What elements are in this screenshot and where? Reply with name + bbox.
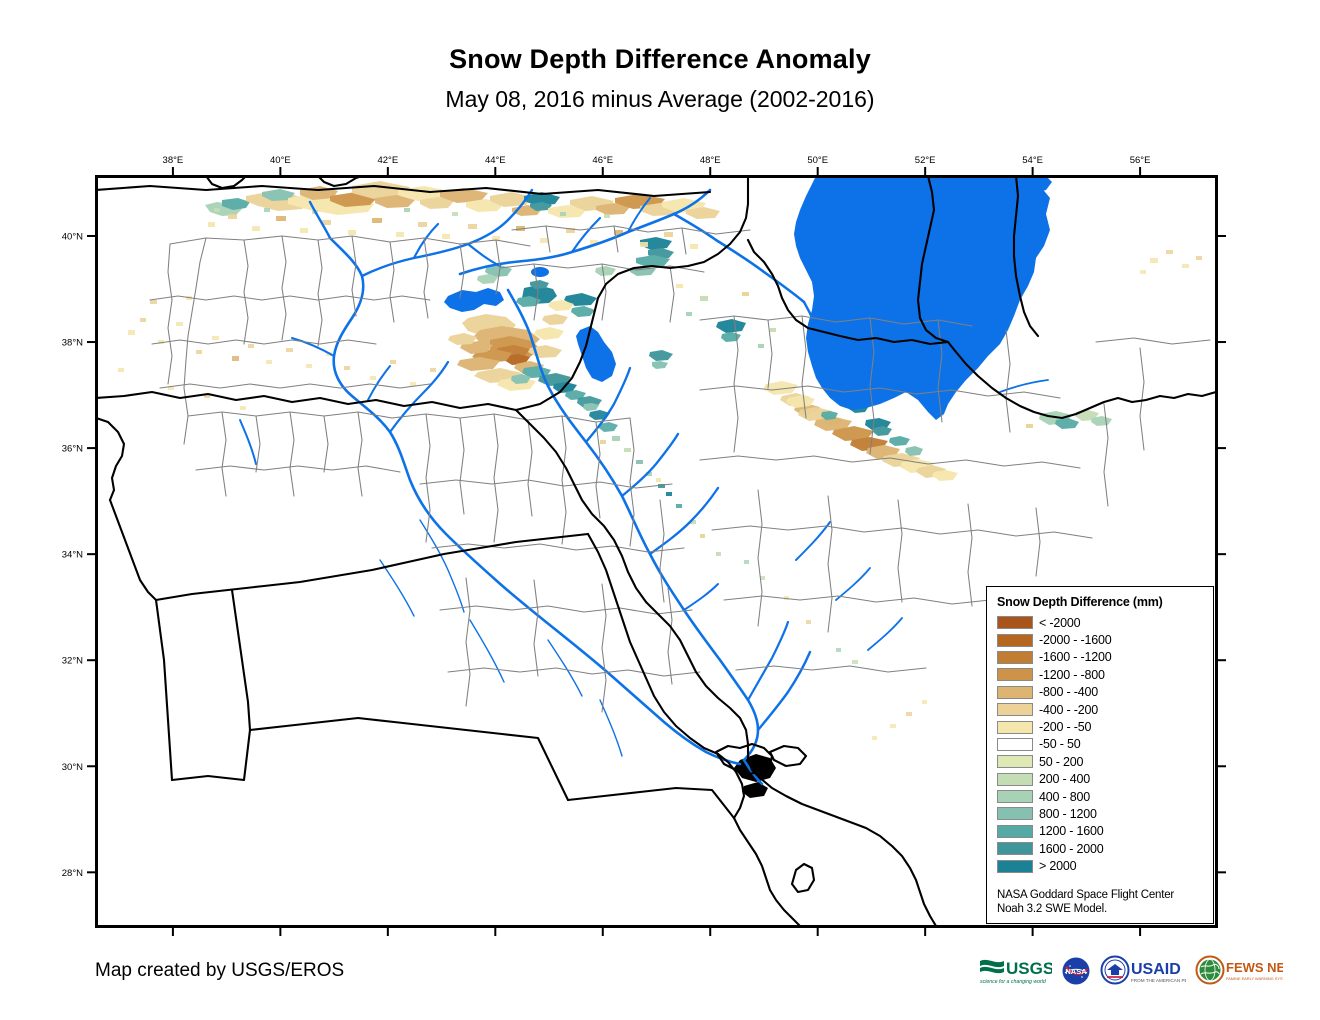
- svg-text:science for a changing world: science for a changing world: [980, 979, 1047, 985]
- legend-entries: < -2000-2000 - -1600-1600 - -1200-1200 -…: [997, 614, 1213, 875]
- legend-label: 50 - 200: [1039, 755, 1083, 769]
- legend-row: 1600 - 2000: [997, 840, 1213, 857]
- legend-row: 1200 - 1600: [997, 823, 1213, 840]
- lon-axis-label: 46°E: [592, 155, 613, 166]
- agency-logos: USGS science for a changing world NASA U…: [978, 953, 1283, 989]
- legend-row: < -2000: [997, 614, 1213, 631]
- map-credit: Map created by USGS/EROS: [95, 960, 344, 982]
- legend-row: -2000 - -1600: [997, 631, 1213, 648]
- legend-panel[interactable]: Snow Depth Difference (mm) < -2000-2000 …: [986, 586, 1214, 924]
- legend-source-line-1: NASA Goddard Space Flight Center: [997, 888, 1174, 902]
- svg-text:FEWS NET: FEWS NET: [1226, 960, 1283, 975]
- legend-source: NASA Goddard Space Flight Center Noah 3.…: [997, 888, 1174, 916]
- legend-swatch: [997, 790, 1033, 803]
- legend-label: -2000 - -1600: [1039, 633, 1111, 647]
- lon-axis-label: 40°E: [270, 155, 291, 166]
- legend-source-line-2: Noah 3.2 SWE Model.: [997, 902, 1174, 916]
- legend-swatch: [997, 860, 1033, 873]
- legend-row: -400 - -200: [997, 701, 1213, 718]
- legend-swatch: [997, 616, 1033, 629]
- legend-label: -800 - -400: [1039, 685, 1098, 699]
- svg-text:USGS: USGS: [1006, 959, 1052, 978]
- legend-label: 800 - 1200: [1039, 807, 1097, 821]
- lon-axis-label: 52°E: [915, 155, 936, 166]
- fewsnet-logo[interactable]: FEWS NET FAMINE EARLY WARNING SYSTEMS NE…: [1195, 954, 1283, 988]
- lat-axis-label: 38°N: [62, 338, 83, 349]
- legend-row: -800 - -400: [997, 684, 1213, 701]
- legend-label: 1600 - 2000: [1039, 842, 1104, 856]
- legend-swatch: [997, 703, 1033, 716]
- svg-text:USAID: USAID: [1131, 961, 1181, 978]
- svg-text:NASA: NASA: [1065, 967, 1087, 976]
- lat-axis-label: 28°N: [62, 868, 83, 879]
- legend-label: > 2000: [1039, 859, 1076, 873]
- lon-axis-label: 44°E: [485, 155, 506, 166]
- legend-swatch: [997, 668, 1033, 681]
- legend-label: 400 - 800: [1039, 790, 1090, 804]
- legend-row: -50 - 50: [997, 736, 1213, 753]
- legend-label: 200 - 400: [1039, 772, 1090, 786]
- legend-swatch: [997, 755, 1033, 768]
- legend-swatch: [997, 634, 1033, 647]
- lon-axis-label: 54°E: [1022, 155, 1043, 166]
- lon-axis-label: 50°E: [807, 155, 828, 166]
- legend-label: -50 - 50: [1039, 737, 1080, 751]
- legend-row: -200 - -50: [997, 718, 1213, 735]
- lat-axis-label: 32°N: [62, 656, 83, 667]
- legend-label: -1200 - -800: [1039, 668, 1105, 682]
- lon-axis-label: 56°E: [1130, 155, 1151, 166]
- legend-swatch: [997, 738, 1033, 751]
- legend-label: < -2000: [1039, 616, 1080, 630]
- legend-label: -200 - -50: [1039, 720, 1091, 734]
- lake-sevan: [531, 267, 549, 277]
- svg-text:FAMINE EARLY WARNING SYSTEMS N: FAMINE EARLY WARNING SYSTEMS NETWORK: [1226, 976, 1283, 981]
- legend-swatch: [997, 651, 1033, 664]
- legend-title: Snow Depth Difference (mm): [997, 595, 1213, 609]
- legend-row: 800 - 1200: [997, 805, 1213, 822]
- usgs-logo[interactable]: USGS science for a changing world: [978, 954, 1052, 988]
- legend-label: -400 - -200: [1039, 703, 1098, 717]
- lon-axis-label: 42°E: [377, 155, 398, 166]
- legend-row: 50 - 200: [997, 753, 1213, 770]
- legend-row: -1600 - -1200: [997, 649, 1213, 666]
- legend-swatch: [997, 807, 1033, 820]
- legend-swatch: [997, 842, 1033, 855]
- lon-axis-label: 38°E: [163, 155, 184, 166]
- legend-label: 1200 - 1600: [1039, 824, 1104, 838]
- svg-text:FROM THE AMERICAN PEOPLE: FROM THE AMERICAN PEOPLE: [1131, 978, 1186, 983]
- lat-axis-label: 40°N: [62, 231, 83, 242]
- lat-axis-label: 34°N: [62, 550, 83, 561]
- nasa-logo[interactable]: NASA: [1061, 954, 1091, 988]
- lat-axis-label: 30°N: [62, 762, 83, 773]
- legend-swatch: [997, 825, 1033, 838]
- legend-label: -1600 - -1200: [1039, 650, 1111, 664]
- lat-axis-label: 36°N: [62, 444, 83, 455]
- legend-row: 400 - 800: [997, 788, 1213, 805]
- legend-swatch: [997, 773, 1033, 786]
- legend-swatch: [997, 686, 1033, 699]
- legend-row: 200 - 400: [997, 771, 1213, 788]
- legend-row: -1200 - -800: [997, 666, 1213, 683]
- usaid-logo[interactable]: USAID FROM THE AMERICAN PEOPLE: [1100, 954, 1186, 988]
- legend-row: > 2000: [997, 857, 1213, 874]
- usgs-wave-mark: [980, 960, 1004, 973]
- legend-swatch: [997, 721, 1033, 734]
- lon-axis-label: 48°E: [700, 155, 721, 166]
